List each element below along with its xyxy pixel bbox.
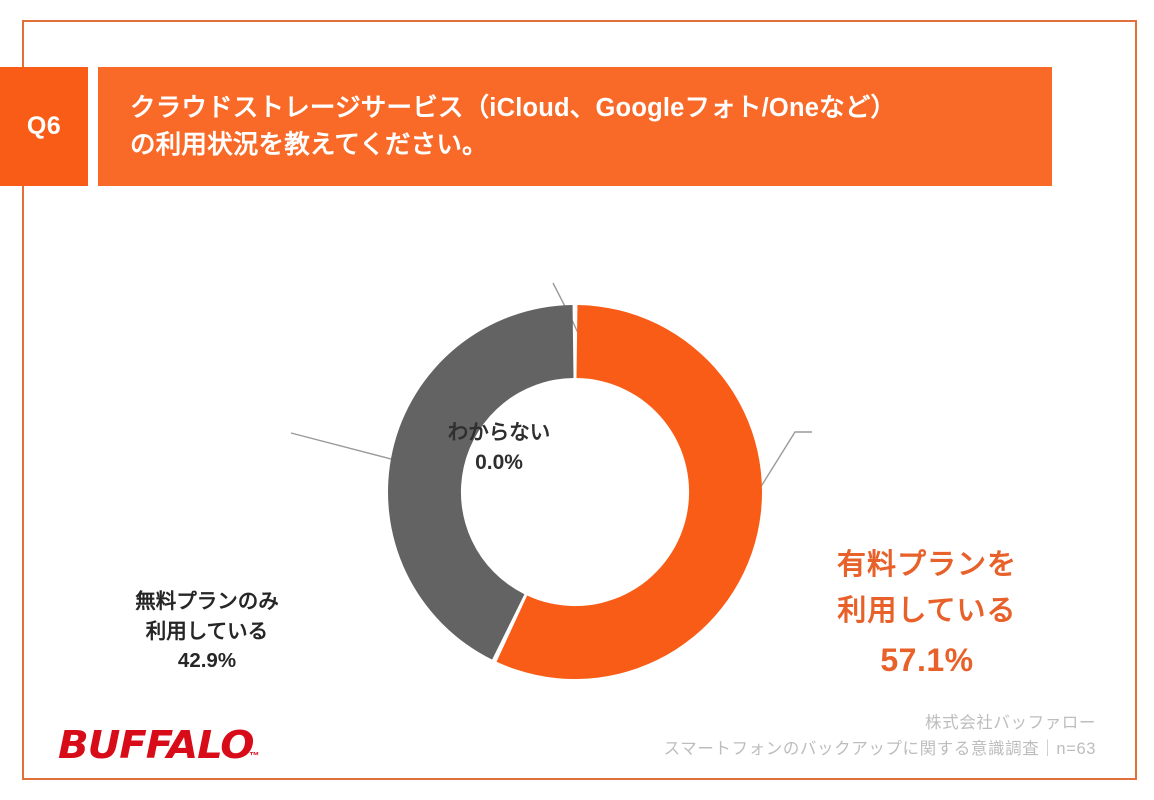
label-free-plan-value: 42.9% (72, 646, 342, 676)
label-free-plan-name-line-2: 利用している (72, 617, 342, 647)
footer-credit: 株式会社バッファロー スマートフォンのバックアップに関する意識調査｜n=63 (664, 710, 1096, 763)
label-paid-plan: 有料プランを 利用している 57.1% (782, 542, 1072, 686)
footer-company: 株式会社バッファロー (664, 710, 1096, 736)
label-unknown-name: わからない (391, 418, 607, 448)
question-title-line-2: の利用状況を教えてください。 (130, 127, 896, 164)
label-paid-plan-name-line-1: 有料プランを (782, 542, 1072, 588)
donut-chart: わからない 0.0% 無料プランのみ 利用している 42.9% 有料プランを 利… (0, 200, 1154, 700)
question-number-badge: Q6 (0, 67, 88, 186)
question-title: クラウドストレージサービス（iCloud、Googleフォト/Oneなど） の利… (98, 90, 916, 164)
label-unknown-value: 0.0% (391, 448, 607, 478)
label-unknown: わからない 0.0% (391, 418, 607, 478)
question-title-bar: クラウドストレージサービス（iCloud、Googleフォト/Oneなど） の利… (98, 67, 1052, 186)
label-paid-plan-value: 57.1% (782, 635, 1072, 686)
label-free-plan-name-line-1: 無料プランのみ (72, 587, 342, 617)
label-paid-plan-name-line-2: 利用している (782, 588, 1072, 634)
slide-root: Q6 クラウドストレージサービス（iCloud、Googleフォト/Oneなど）… (0, 0, 1154, 800)
label-free-plan: 無料プランのみ 利用している 42.9% (72, 587, 342, 676)
buffalo-logo: BUFFALO ™ (58, 722, 259, 764)
question-title-line-1: クラウドストレージサービス（iCloud、Googleフォト/Oneなど） (130, 90, 896, 127)
footer-survey: スマートフォンのバックアップに関する意識調査｜n=63 (664, 736, 1096, 762)
buffalo-logo-text: BUFFALO (58, 726, 253, 764)
question-number-label: Q6 (27, 112, 61, 141)
